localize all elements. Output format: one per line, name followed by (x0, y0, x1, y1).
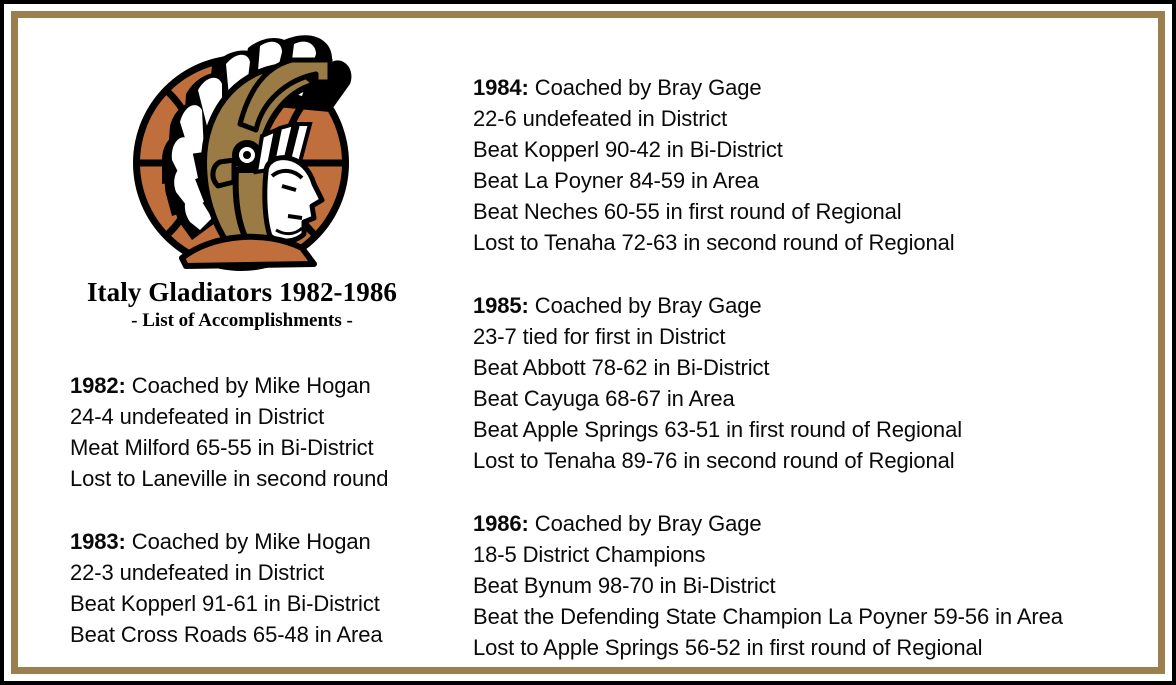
season-year: 1982: (70, 373, 126, 398)
season-result: Beat Cross Roads 65-48 in Area (70, 619, 460, 650)
season-coach: Coached by Mike Hogan (126, 373, 371, 398)
season-coach: Coached by Bray Gage (529, 511, 762, 536)
season-headline: 1986: Coached by Bray Gage (473, 508, 1173, 539)
season-year: 1985: (473, 293, 529, 318)
season-record: 22-3 undefeated in District (70, 557, 460, 588)
season-year: 1984: (473, 75, 529, 100)
season-headline: 1982: Coached by Mike Hogan (70, 370, 460, 401)
frame-interior: Italy Gladiators 1982-1986 - List of Acc… (18, 18, 1158, 667)
season-result: Beat Neches 60-55 in first round of Regi… (473, 196, 1173, 227)
season-headline: 1985: Coached by Bray Gage (473, 290, 1173, 321)
poster-page: Italy Gladiators 1982-1986 - List of Acc… (0, 0, 1176, 685)
season-1984: 1984: Coached by Bray Gage 22-6 undefeat… (473, 72, 1173, 258)
season-coach: Coached by Mike Hogan (126, 529, 371, 554)
seasons-column-right: 1984: Coached by Bray Gage 22-6 undefeat… (473, 72, 1173, 663)
season-headline: 1983: Coached by Mike Hogan (70, 526, 460, 557)
page-subtitle: - List of Accomplishments - (32, 308, 452, 333)
season-headline: 1984: Coached by Bray Gage (473, 72, 1173, 103)
season-record: 24-4 undefeated in District (70, 401, 460, 432)
season-coach: Coached by Bray Gage (529, 293, 762, 318)
season-result: Lost to Tenaha 72-63 in second round of … (473, 227, 1173, 258)
title-block: Italy Gladiators 1982-1986 - List of Acc… (32, 276, 452, 333)
season-result: Lost to Apple Springs 56-52 in first rou… (473, 632, 1173, 663)
season-result: Beat Cayuga 68-67 in Area (473, 383, 1173, 414)
season-1985: 1985: Coached by Bray Gage 23-7 tied for… (473, 290, 1173, 476)
season-coach: Coached by Bray Gage (529, 75, 762, 100)
season-result: Beat Apple Springs 63-51 in first round … (473, 414, 1173, 445)
season-result: Beat Bynum 98-70 in Bi-District (473, 570, 1173, 601)
season-record: 18-5 District Champions (473, 539, 1173, 570)
season-result: Beat Abbott 78-62 in Bi-District (473, 352, 1173, 383)
season-1986: 1986: Coached by Bray Gage 18-5 District… (473, 508, 1173, 663)
season-1983: 1983: Coached by Mike Hogan 22-3 undefea… (70, 526, 460, 650)
season-year: 1986: (473, 511, 529, 536)
italy-gladiators-logo (116, 20, 366, 275)
season-result: Beat La Poyner 84-59 in Area (473, 165, 1173, 196)
poster-content: Italy Gladiators 1982-1986 - List of Acc… (18, 18, 1158, 667)
season-result: Meat Milford 65-55 in Bi-District (70, 432, 460, 463)
season-result: Lost to Tenaha 89-76 in second round of … (473, 445, 1173, 476)
season-result: Beat Kopperl 90-42 in Bi-District (473, 134, 1173, 165)
season-record: 22-6 undefeated in District (473, 103, 1173, 134)
season-1982: 1982: Coached by Mike Hogan 24-4 undefea… (70, 370, 460, 494)
season-result: Beat the Defending State Champion La Poy… (473, 601, 1173, 632)
season-result: Lost to Laneville in second round (70, 463, 460, 494)
season-record: 23-7 tied for first in District (473, 321, 1173, 352)
seasons-column-left: 1982: Coached by Mike Hogan 24-4 undefea… (70, 370, 460, 650)
season-result: Beat Kopperl 91-61 in Bi-District (70, 588, 460, 619)
season-year: 1983: (70, 529, 126, 554)
page-title: Italy Gladiators 1982-1986 (32, 276, 452, 308)
